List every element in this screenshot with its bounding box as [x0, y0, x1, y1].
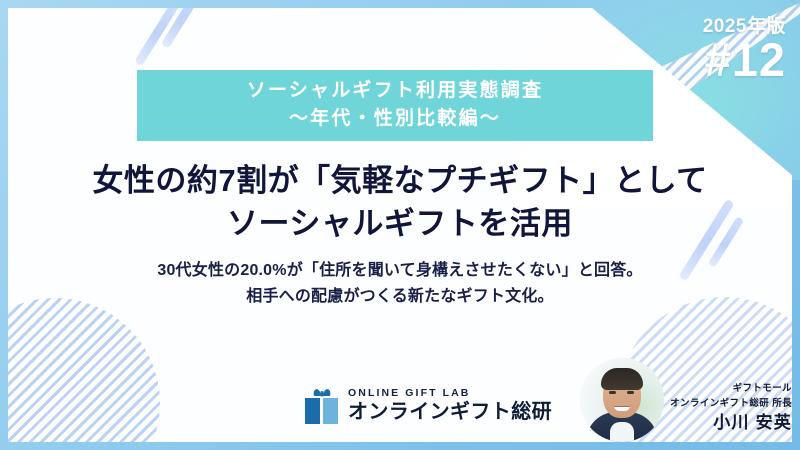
headline: 女性の約7割が「気軽なプチギフト」として ソーシャルギフトを活用	[0, 160, 800, 246]
gift-bow-icon	[313, 388, 331, 397]
brand-name-en: ONLINE GIFT LAB	[348, 387, 552, 400]
accent-stroke-1	[134, 8, 183, 66]
survey-banner-line2: 〜年代・性別比較編〜	[137, 105, 653, 133]
survey-banner-line1: ソーシャルギフト利用実態調査	[137, 77, 653, 105]
striped-circle-bottom-left	[8, 298, 160, 442]
portrait-hair	[601, 368, 643, 390]
gift-box-icon	[305, 388, 339, 424]
avatar	[580, 358, 664, 442]
survey-banner: ソーシャルギフト利用実態調査 〜年代・性別比較編〜	[137, 70, 653, 141]
gift-box-right-panel	[323, 398, 338, 424]
subtitle-line1: 30代女性の20.0%が「住所を聞いて身構えさせたくない」と回答。	[0, 258, 800, 284]
person-org-line1: ギフトモール	[670, 382, 792, 396]
person-name: 小川 安英	[670, 412, 792, 434]
headline-line2: ソーシャルギフトを活用	[0, 203, 800, 246]
accent-stroke-2	[161, 8, 207, 49]
portrait-eye-right	[627, 391, 634, 394]
person-credit: ギフトモール オンラインギフト総研 所長 小川 安英	[670, 382, 792, 442]
person-org-line2: オンラインギフト総研 所長	[670, 397, 792, 411]
brand-logo-text: ONLINE GIFT LAB オンラインギフト総研	[348, 387, 552, 425]
portrait-shirt	[610, 422, 634, 442]
portrait-eye-left	[609, 391, 616, 394]
gift-box-left-panel	[305, 398, 320, 424]
person-credit-block: ギフトモール オンラインギフト総研 所長 小川 安英	[580, 358, 792, 442]
brand-name-jp: オンラインギフト総研	[348, 401, 552, 425]
headline-line1: 女性の約7割が「気軽なプチギフト」として	[0, 160, 800, 203]
subtitle: 30代女性の20.0%が「住所を聞いて身構えさせたくない」と回答。 相手への配慮…	[0, 258, 800, 310]
brand-logo: ONLINE GIFT LAB オンラインギフト総研	[305, 387, 552, 425]
slide-canvas: 2025年版 #12 ソーシャルギフト利用実態調査 〜年代・性別比較編〜 女性の…	[0, 0, 800, 450]
issue-number-label: #12	[703, 36, 786, 84]
issue-marker: 2025年版 #12	[703, 16, 786, 84]
subtitle-line2: 相手への配慮がつくる新たなギフト文化。	[0, 284, 800, 310]
